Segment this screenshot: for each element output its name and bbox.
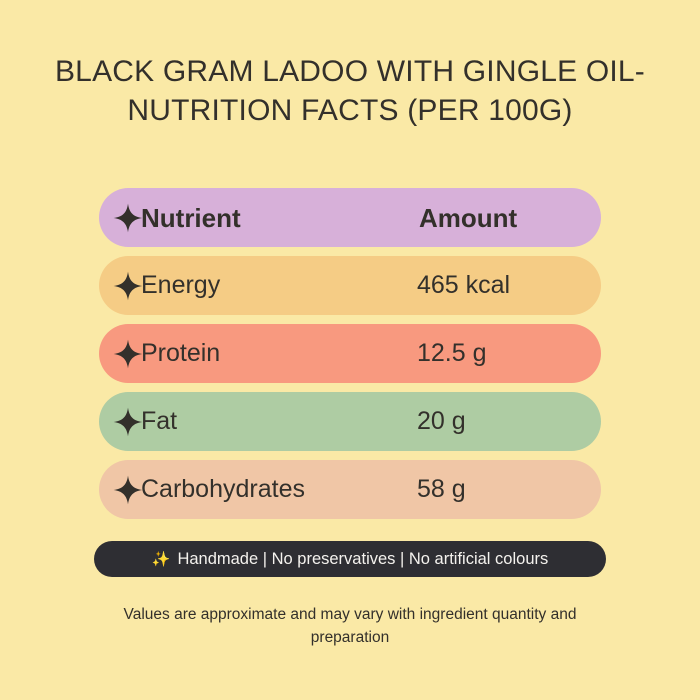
nutrient-amount: 12.5 g bbox=[417, 341, 487, 366]
table-row: Protein 12.5 g bbox=[99, 324, 601, 383]
nutrient-name: Protein bbox=[141, 341, 220, 366]
disclaimer-text: Values are approximate and may vary with… bbox=[110, 603, 590, 650]
sparkles-emoji: ✨ bbox=[152, 552, 171, 567]
column-header-amount: Amount bbox=[419, 205, 517, 231]
nutrient-amount: 58 g bbox=[417, 477, 466, 502]
sparkle-icon bbox=[113, 339, 143, 369]
quality-claims-banner: ✨ Handmade | No preservatives | No artif… bbox=[94, 541, 606, 577]
nutrient-name: Energy bbox=[141, 273, 220, 298]
quality-claims-text: Handmade | No preservatives | No artific… bbox=[177, 550, 548, 569]
nutrition-facts-poster: BLACK GRAM LADOO WITH GINGLE OIL- NUTRIT… bbox=[0, 0, 700, 700]
page-title: BLACK GRAM LADOO WITH GINGLE OIL- NUTRIT… bbox=[50, 52, 650, 130]
sparkle-icon bbox=[113, 475, 143, 505]
sparkle-icon bbox=[113, 271, 143, 301]
table-row: Energy 465 kcal bbox=[99, 256, 601, 315]
nutrient-name: Fat bbox=[141, 409, 177, 434]
column-header-nutrient: Nutrient bbox=[141, 205, 241, 231]
sparkle-icon bbox=[113, 203, 143, 233]
nutrient-amount: 20 g bbox=[417, 409, 466, 434]
table-row: Fat 20 g bbox=[99, 392, 601, 451]
nutrient-amount: 465 kcal bbox=[417, 273, 510, 298]
table-row: Carbohydrates 58 g bbox=[99, 460, 601, 519]
table-header-row: Nutrient Amount bbox=[99, 188, 601, 247]
nutrition-table: Nutrient Amount Energy 465 kcal Protein … bbox=[99, 188, 601, 519]
nutrient-name: Carbohydrates bbox=[141, 477, 305, 502]
sparkle-icon bbox=[113, 407, 143, 437]
